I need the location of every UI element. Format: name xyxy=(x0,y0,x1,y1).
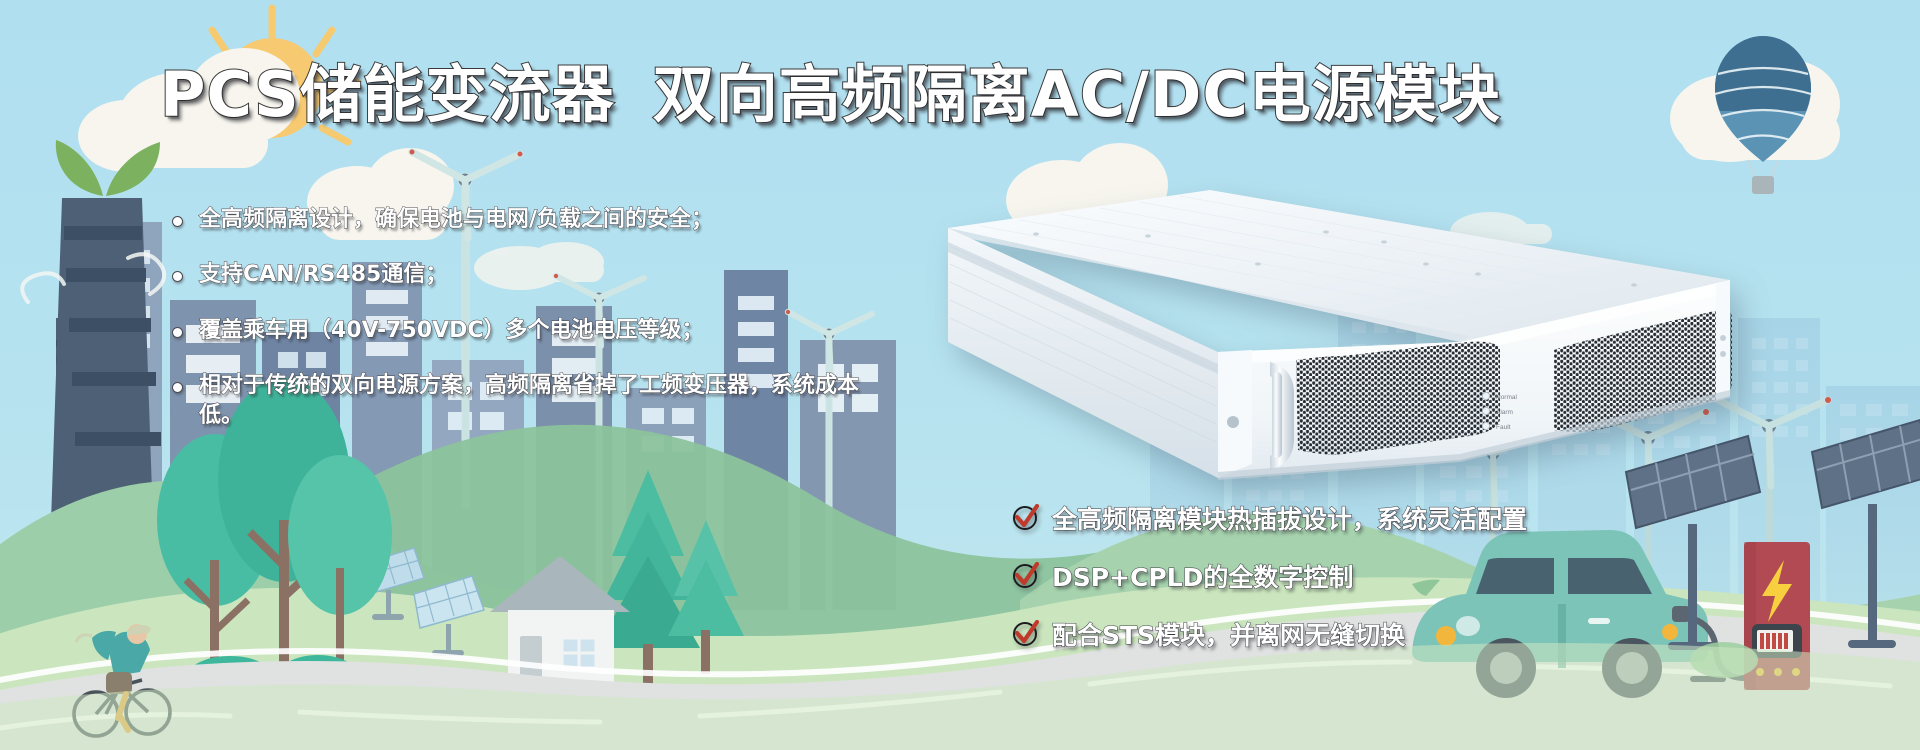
list-item: 支持CAN/RS485通信； xyxy=(172,260,932,289)
feature-bullet-list: 全高频隔离设计，确保电池与电网/负载之间的安全； 支持CAN/RS485通信； … xyxy=(172,205,932,456)
page-title: PCS储能变流器双向高频隔离AC/DC电源模块 xyxy=(160,62,1501,129)
check-circle-icon xyxy=(1012,562,1040,590)
handle-bar xyxy=(1272,372,1282,458)
title-part-1: PCS储能变流器 xyxy=(160,58,615,131)
bullet-text: 全高频隔离设计，确保电池与电网/负载之间的安全； xyxy=(199,205,713,234)
check-circle-icon xyxy=(1012,504,1040,532)
check-text: 配合STS模块，并离网无缝切换 xyxy=(1052,616,1405,652)
banner-title-block: PCS储能变流器双向高频隔离AC/DC电源模块 xyxy=(160,62,1501,129)
bullet-dot-icon xyxy=(172,271,183,282)
bullet-dot-icon xyxy=(172,216,183,227)
indicator-dot xyxy=(1227,416,1239,428)
list-item: 覆盖乘车用（40V-750VDC）多个电池电压等级； xyxy=(172,316,932,345)
product-image: Normal Alarm Fault xyxy=(940,160,1740,510)
bullet-text: 相对于传统的双向电源方案，高频隔离省掉了工频变压器，系统成本低。 xyxy=(199,371,879,430)
check-text: DSP+CPLD的全数字控制 xyxy=(1052,558,1353,594)
check-text: 全高频隔离模块热插拔设计，系统灵活配置 xyxy=(1052,500,1527,536)
list-item: 配合STS模块，并离网无缝切换 xyxy=(1012,616,1527,652)
led-label-normal: Normal xyxy=(1496,394,1518,401)
led-normal xyxy=(1482,392,1489,399)
list-item: 全高频隔离设计，确保电池与电网/负载之间的安全； xyxy=(172,205,932,234)
panel-bezel-left xyxy=(1218,350,1252,478)
check-circle-icon xyxy=(1012,620,1040,648)
led-alarm xyxy=(1482,407,1489,414)
led-label-fault: Fault xyxy=(1496,424,1511,431)
bullet-text: 支持CAN/RS485通信； xyxy=(199,260,447,289)
bullet-dot-icon xyxy=(172,382,183,393)
bullet-dot-icon xyxy=(172,327,183,338)
highlight-check-list: 全高频隔离模块热插拔设计，系统灵活配置 DSP+CPLD的全数字控制 配合STS… xyxy=(1012,500,1527,674)
led-label-alarm: Alarm xyxy=(1496,409,1513,416)
led-fault xyxy=(1482,422,1489,429)
bullet-text: 覆盖乘车用（40V-750VDC）多个电池电压等级； xyxy=(199,316,704,345)
list-item: DSP+CPLD的全数字控制 xyxy=(1012,558,1527,594)
list-item: 相对于传统的双向电源方案，高频隔离省掉了工频变压器，系统成本低。 xyxy=(172,371,932,430)
title-part-2: 双向高频隔离AC/DC电源模块 xyxy=(653,58,1501,131)
list-item: 全高频隔离模块热插拔设计，系统灵活配置 xyxy=(1012,500,1527,536)
promo-banner: Normal Alarm Fault PCS储能变流器双向高频隔离AC/DC电源… xyxy=(0,0,1920,750)
